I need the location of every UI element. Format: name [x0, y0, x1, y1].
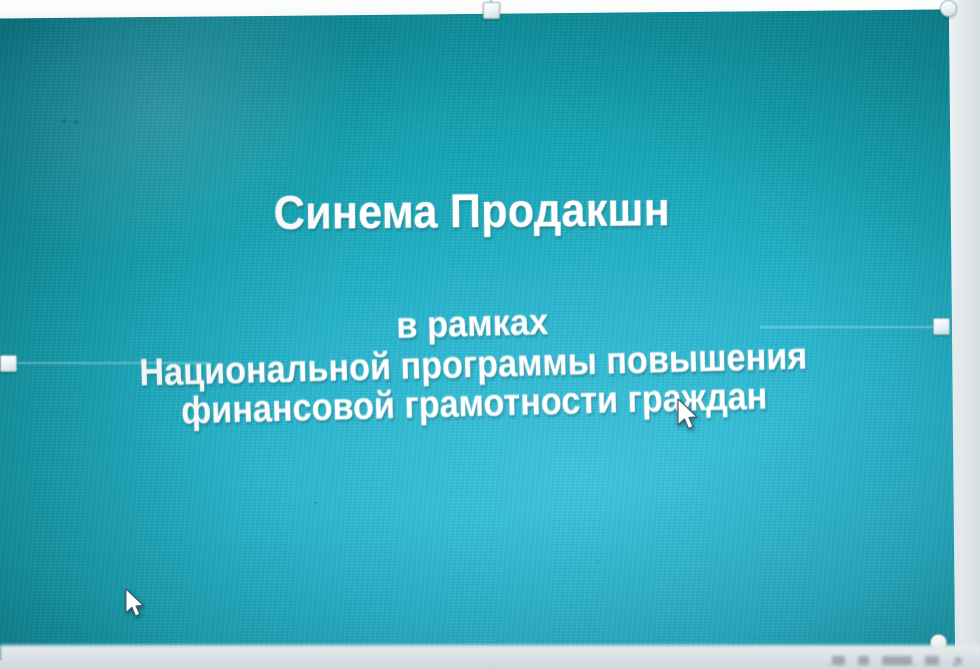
tray-icon[interactable]	[882, 656, 912, 665]
handle-top-center[interactable]	[483, 2, 500, 19]
handle-middle-left[interactable]	[0, 355, 17, 372]
handle-middle-right[interactable]	[933, 318, 950, 335]
slide-title: Синема Продакшн	[31, 182, 913, 240]
tray-icon[interactable]	[858, 656, 869, 665]
slide-subtitle-block: в рамках Национальной программы повышени…	[0, 290, 954, 438]
system-tray[interactable]: 🔊	[832, 654, 966, 667]
presentation-slide[interactable]: Синема Продакшн в рамках Национальной пр…	[0, 9, 955, 660]
dust-speck	[314, 501, 318, 504]
speaker-icon[interactable]: 🔊	[952, 654, 966, 667]
tray-icon[interactable]	[925, 656, 939, 665]
slide-surface[interactable]: Синема Продакшн в рамках Национальной пр…	[0, 9, 955, 660]
screen-photograph: Синема Продакшн в рамках Национальной пр…	[0, 0, 980, 669]
screen-glare	[0, 9, 409, 316]
tray-icon[interactable]	[832, 656, 845, 665]
dust-speck	[596, 561, 599, 564]
system-taskbar[interactable]: 🔊	[0, 645, 980, 669]
dust-speck	[74, 120, 79, 124]
handle-top-right[interactable]	[940, 0, 957, 17]
dust-speck	[62, 119, 67, 123]
